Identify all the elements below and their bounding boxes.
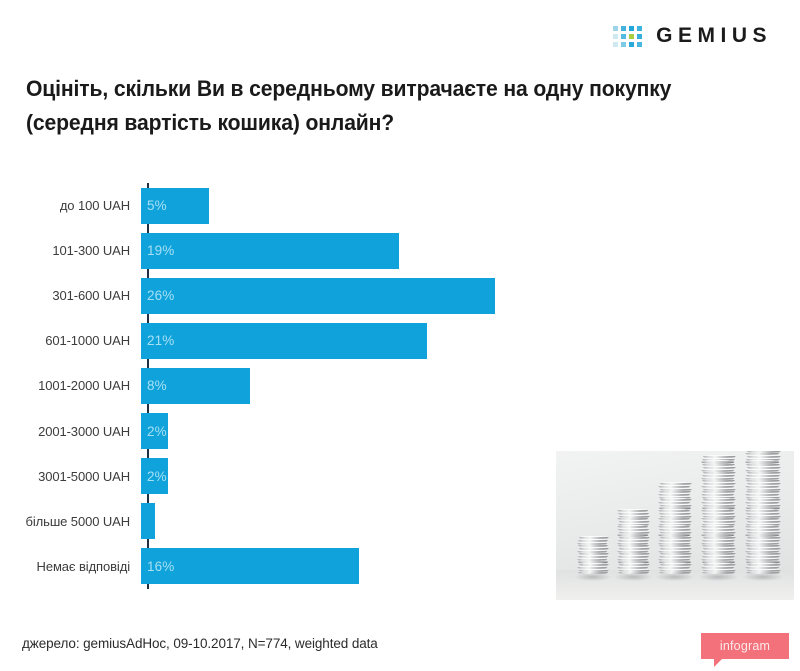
- coin: [703, 552, 736, 555]
- coin: [701, 525, 734, 528]
- logo-dot-6: [629, 34, 634, 39]
- coin: [747, 466, 781, 469]
- logo-dot-10: [629, 42, 634, 47]
- coin: [619, 515, 650, 518]
- coin: [701, 493, 734, 496]
- logo-dot-11: [637, 42, 642, 47]
- coin: [703, 515, 736, 518]
- coin: [577, 542, 607, 545]
- bar-value-label: 16%: [141, 559, 174, 574]
- bar-zone: 8%: [139, 363, 800, 408]
- chart-row: 1001-2000 UAH8%: [0, 363, 800, 408]
- coin: [703, 547, 736, 550]
- coin: [658, 566, 690, 569]
- coin: [747, 520, 781, 523]
- bar-value-label: 2%: [141, 424, 167, 439]
- logo-dot-1: [621, 26, 626, 31]
- coin-stack-1: [578, 536, 608, 574]
- coin: [659, 571, 691, 574]
- coin-stack-3: [659, 482, 691, 574]
- category-label: 101-300 UAH: [0, 243, 139, 258]
- coin: [660, 531, 692, 534]
- coin: [745, 460, 779, 463]
- logo-dot-8: [613, 42, 618, 47]
- coin: [660, 520, 692, 523]
- category-label: 1001-2000 UAH: [0, 378, 139, 393]
- coin: [658, 493, 690, 496]
- bar-value-label: 26%: [141, 288, 174, 303]
- coin: [747, 498, 781, 501]
- coin: [745, 493, 779, 496]
- coin: [577, 550, 607, 553]
- bar-zone: 26%: [139, 273, 800, 318]
- coin: [745, 469, 779, 472]
- coin: [747, 504, 781, 507]
- bar-value-label: 21%: [141, 333, 174, 348]
- coin: [701, 485, 734, 488]
- coin: [660, 547, 692, 550]
- coin: [701, 533, 734, 536]
- coin: [658, 525, 690, 528]
- logo-dot-7: [637, 34, 642, 39]
- coin: [619, 552, 650, 555]
- infogram-badge[interactable]: infogram: [701, 633, 789, 659]
- coin: [619, 536, 650, 539]
- coin: [617, 533, 648, 536]
- coin: [701, 542, 734, 545]
- coin: [747, 563, 781, 566]
- coin: [747, 547, 781, 550]
- coin: [703, 531, 736, 534]
- logo-dot-4: [613, 34, 618, 39]
- coin: [703, 471, 736, 474]
- bar[interactable]: 26%: [141, 278, 495, 314]
- coin: [617, 509, 648, 512]
- coin: [579, 563, 609, 566]
- coin: [703, 536, 736, 539]
- coin: [619, 569, 650, 572]
- coin: [660, 498, 692, 501]
- coin: [658, 533, 690, 536]
- coin: [619, 547, 650, 550]
- slide-root: GEMIUS Оцініть, скільки Ви в середньому …: [0, 0, 800, 671]
- coin: [747, 488, 781, 491]
- coin: [579, 569, 609, 572]
- coin: [747, 536, 781, 539]
- coin: [701, 550, 734, 553]
- bar-zone: 19%: [139, 228, 800, 273]
- coin: [617, 517, 648, 520]
- bar[interactable]: [141, 503, 155, 539]
- coin: [617, 550, 648, 553]
- coin: [658, 542, 690, 545]
- coin: [658, 509, 690, 512]
- coin: [579, 547, 609, 550]
- category-label: до 100 UAH: [0, 198, 139, 213]
- chart-row: до 100 UAH5%: [0, 183, 800, 228]
- coin-stack-2: [618, 509, 649, 574]
- coin: [701, 509, 734, 512]
- category-label: 2001-3000 UAH: [0, 424, 139, 439]
- bar-value-label: 2%: [141, 469, 167, 484]
- coin: [747, 515, 781, 518]
- logo-dot-3: [637, 26, 642, 31]
- coin: [578, 571, 608, 574]
- bar-zone: 5%: [139, 183, 800, 228]
- coin: [619, 520, 650, 523]
- coin: [745, 550, 779, 553]
- bar-value-label: 5%: [141, 198, 167, 213]
- coin: [703, 520, 736, 523]
- coin: [703, 466, 736, 469]
- category-label: Немає відповіді: [0, 559, 139, 574]
- brand-name: GEMIUS: [656, 24, 772, 48]
- coin: [660, 563, 692, 566]
- gemius-logo: GEMIUS: [613, 24, 772, 48]
- coin: [747, 569, 781, 572]
- coin: [746, 571, 780, 574]
- bar[interactable]: 2%: [141, 458, 168, 494]
- coin: [703, 569, 736, 572]
- coin: [658, 550, 690, 553]
- coin: [747, 531, 781, 534]
- coin: [745, 517, 779, 520]
- coin: [619, 531, 650, 534]
- bar[interactable]: 2%: [141, 413, 168, 449]
- coin: [660, 488, 692, 491]
- chart-row: 101-300 UAH19%: [0, 228, 800, 273]
- coin: [701, 501, 734, 504]
- coin: [745, 509, 779, 512]
- bar[interactable]: 8%: [141, 368, 250, 404]
- chart-row: 301-600 UAH26%: [0, 273, 800, 318]
- coin: [747, 552, 781, 555]
- coin: [703, 482, 736, 485]
- coin: [617, 525, 648, 528]
- coin: [579, 536, 609, 539]
- category-label: 3001-5000 UAH: [0, 469, 139, 484]
- bar-zone: 21%: [139, 318, 800, 363]
- bar[interactable]: 16%: [141, 548, 359, 584]
- coin: [745, 501, 779, 504]
- bar[interactable]: 19%: [141, 233, 399, 269]
- coin: [658, 517, 690, 520]
- category-label: 301-600 UAH: [0, 288, 139, 303]
- coin: [745, 452, 779, 455]
- category-label: більше 5000 UAH: [0, 514, 139, 529]
- coin: [579, 552, 609, 555]
- chart-row: 601-1000 UAH21%: [0, 318, 800, 363]
- coin: [660, 515, 692, 518]
- coin: [701, 517, 734, 520]
- coin: [660, 552, 692, 555]
- bar-value-label: 8%: [141, 378, 167, 393]
- gemius-dot-matrix-icon: [613, 26, 642, 47]
- coin: [618, 571, 649, 574]
- coin: [747, 471, 781, 474]
- coin: [745, 533, 779, 536]
- coin: [577, 566, 607, 569]
- coin: [660, 504, 692, 507]
- chart-row: 2001-3000 UAH2%: [0, 409, 800, 454]
- coin: [617, 566, 648, 569]
- coin: [701, 566, 734, 569]
- coin: [701, 558, 734, 561]
- coin: [745, 525, 779, 528]
- coin: [703, 504, 736, 507]
- coin: [701, 477, 734, 480]
- coin: [745, 477, 779, 480]
- coin-stack-4: [702, 455, 735, 574]
- page-title: Оцініть, скільки Ви в середньому витрача…: [26, 72, 684, 140]
- logo-dot-0: [613, 26, 618, 31]
- coin: [703, 455, 736, 458]
- coin: [660, 536, 692, 539]
- infogram-label: infogram: [720, 639, 770, 653]
- coin: [701, 469, 734, 472]
- coin: [658, 558, 690, 561]
- coin-stacks-photo: [556, 451, 794, 600]
- coin: [660, 482, 692, 485]
- coin: [745, 566, 779, 569]
- coin: [617, 558, 648, 561]
- coin: [658, 501, 690, 504]
- coin: [745, 558, 779, 561]
- coin: [619, 563, 650, 566]
- logo-dot-2: [629, 26, 634, 31]
- coin: [658, 485, 690, 488]
- coin: [577, 558, 607, 561]
- coin-stack-5: [746, 451, 780, 574]
- category-label: 601-1000 UAH: [0, 333, 139, 348]
- bar-zone: 2%: [139, 409, 800, 454]
- bar[interactable]: 5%: [141, 188, 209, 224]
- bar-value-label: 19%: [141, 243, 174, 258]
- source-note: джерело: gemiusAdHoc, 09-10.2017, N=774,…: [22, 636, 378, 651]
- coin: [703, 488, 736, 491]
- coin: [745, 542, 779, 545]
- logo-dot-5: [621, 34, 626, 39]
- coin: [617, 542, 648, 545]
- coin: [702, 571, 735, 574]
- coin: [703, 498, 736, 501]
- coin: [701, 460, 734, 463]
- coin: [747, 482, 781, 485]
- coin: [703, 563, 736, 566]
- coin: [745, 485, 779, 488]
- bar[interactable]: 21%: [141, 323, 427, 359]
- coin: [660, 569, 692, 572]
- logo-dot-9: [621, 42, 626, 47]
- coin: [747, 455, 781, 458]
